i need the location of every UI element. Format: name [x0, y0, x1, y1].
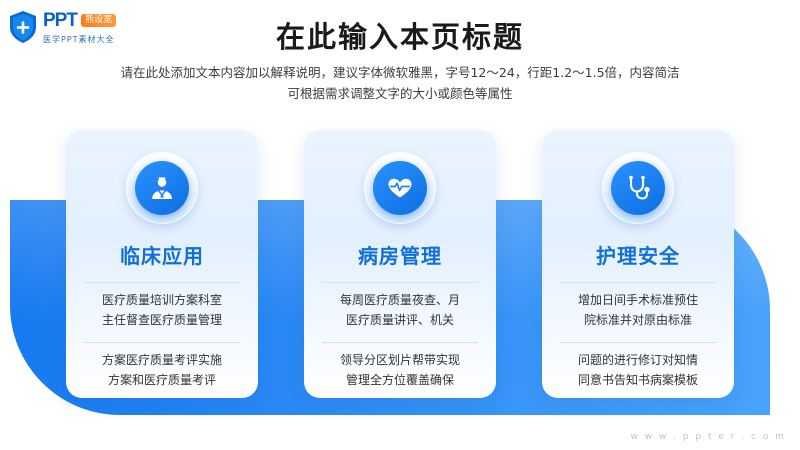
page-subtitle: 请在此处添加文本内容加以解释说明，建议字体微软雅黑，字号12～24，行距1.2～…	[0, 62, 800, 104]
card-title: 临床应用	[66, 240, 258, 269]
icon-ring	[364, 152, 436, 224]
card-divider-top	[84, 282, 240, 283]
logo-tagline: 医学PPT素材大全	[43, 34, 116, 45]
shield-icon	[8, 10, 38, 44]
card-item[interactable]: 临床应用 医疗质量培训方案科室 主任督查医疗质量管理 方案医疗质量考评实施 方案…	[66, 130, 258, 398]
card-paragraph-1: 医疗质量培训方案科室 主任督查医疗质量管理	[76, 290, 248, 330]
page-subtitle-line2: 可根据需求调整文字的大小或颜色等属性	[0, 83, 800, 104]
card-list: 临床应用 医疗质量培训方案科室 主任督查医疗质量管理 方案医疗质量考评实施 方案…	[0, 130, 800, 400]
card-paragraph-1: 每周医疗质量夜查、月 医疗质量讲评、机关	[314, 290, 486, 330]
card-divider-bottom	[84, 342, 240, 343]
icon-ring	[126, 152, 198, 224]
card-divider-top	[322, 282, 478, 283]
card-title: 护理安全	[542, 240, 734, 269]
card-item[interactable]: 护理安全 增加日间手术标准预住 院标准并对原由标准 问题的进行修订对知情 同意书…	[542, 130, 734, 398]
logo-brand: PPT	[43, 10, 77, 32]
card-divider-bottom	[322, 342, 478, 343]
card-item[interactable]: 病房管理 每周医疗质量夜查、月 医疗质量讲评、机关 领导分区划片帮带实现 管理全…	[304, 130, 496, 398]
logo-badge: 熊设宽	[81, 14, 116, 27]
doctor-icon	[135, 161, 189, 215]
stethoscope-icon	[611, 161, 665, 215]
logo: PPT 熊设宽 医学PPT素材大全	[8, 6, 158, 48]
card-paragraph-2: 问题的进行修订对知情 同意书告知书病案模板	[552, 350, 724, 390]
card-paragraph-1: 增加日间手术标准预住 院标准并对原由标准	[552, 290, 724, 330]
heart-pulse-icon	[373, 161, 427, 215]
card-title: 病房管理	[304, 240, 496, 269]
page-subtitle-line1: 请在此处添加文本内容加以解释说明，建议字体微软雅黑，字号12～24，行距1.2～…	[0, 62, 800, 83]
logo-text: PPT 熊设宽 医学PPT素材大全	[43, 10, 116, 45]
icon-ring	[602, 152, 674, 224]
card-divider-top	[560, 282, 716, 283]
footer-watermark: w w w . p p t e r . c o m	[630, 432, 786, 442]
card-paragraph-2: 方案医疗质量考评实施 方案和医疗质量考评	[76, 350, 248, 390]
card-divider-bottom	[560, 342, 716, 343]
card-paragraph-2: 领导分区划片帮带实现 管理全方位覆盖确保	[314, 350, 486, 390]
